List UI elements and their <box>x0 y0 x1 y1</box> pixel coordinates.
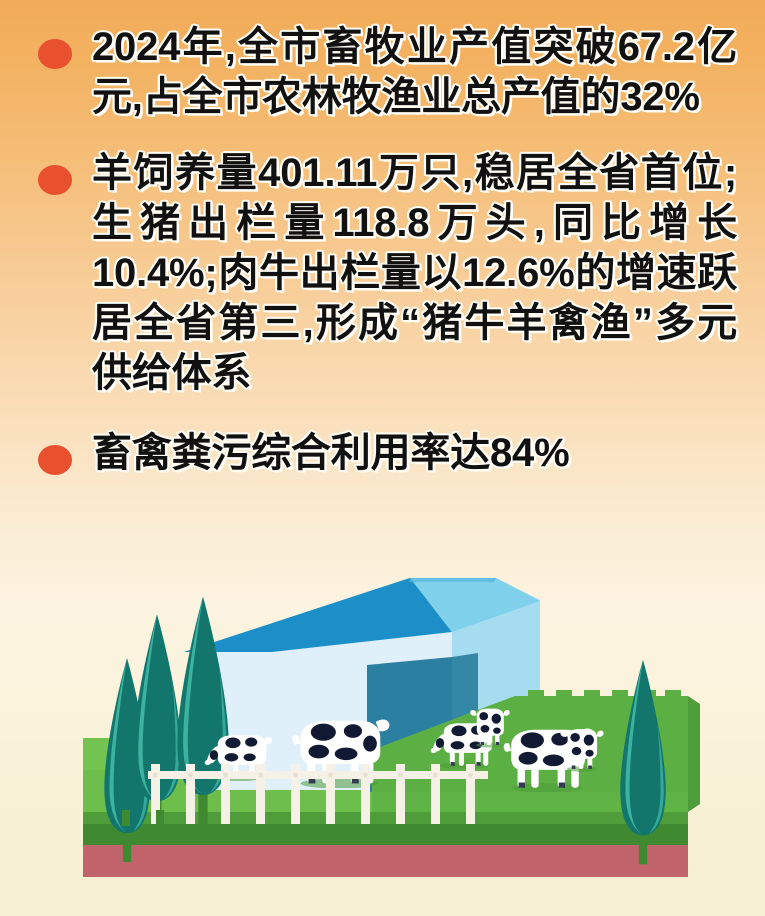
bullet-item-2: 羊饲养量401.11万只,稳居全省首位;生猪出栏量118.8万头,同比增长10.… <box>0 148 765 398</box>
platform-edge <box>83 810 688 824</box>
bullet-item-2-text: 羊饲养量401.11万只,稳居全省首位;生猪出栏量118.8万头,同比增长10.… <box>92 148 737 398</box>
farm-scene-svg <box>0 560 765 916</box>
platform-base-red <box>83 844 688 877</box>
bullet-item-3-text: 畜禽粪污综合利用率达84% <box>92 428 737 478</box>
bullet-dot-icon <box>38 445 72 475</box>
bullet-dot-icon <box>38 39 72 69</box>
bullet-list: 2024年,全市畜牧业产值突破67.2亿元,占全市农林牧渔业总产值的32% 羊饲… <box>0 0 765 478</box>
ground-platform <box>83 810 688 877</box>
infographic-poster: 2024年,全市畜牧业产值突破67.2亿元,占全市农林牧渔业总产值的32% 羊饲… <box>0 0 765 916</box>
bullet-item-1: 2024年,全市畜牧业产值突破67.2亿元,占全市农林牧渔业总产值的32% <box>0 22 765 122</box>
bullet-item-1-text: 2024年,全市畜牧业产值突破67.2亿元,占全市农林牧渔业总产值的32% <box>92 22 737 122</box>
farm-illustration <box>0 560 765 916</box>
platform-band-dark <box>83 824 688 845</box>
bullet-item-3: 畜禽粪污综合利用率达84% <box>0 428 765 478</box>
bullet-dot-icon <box>38 165 72 195</box>
